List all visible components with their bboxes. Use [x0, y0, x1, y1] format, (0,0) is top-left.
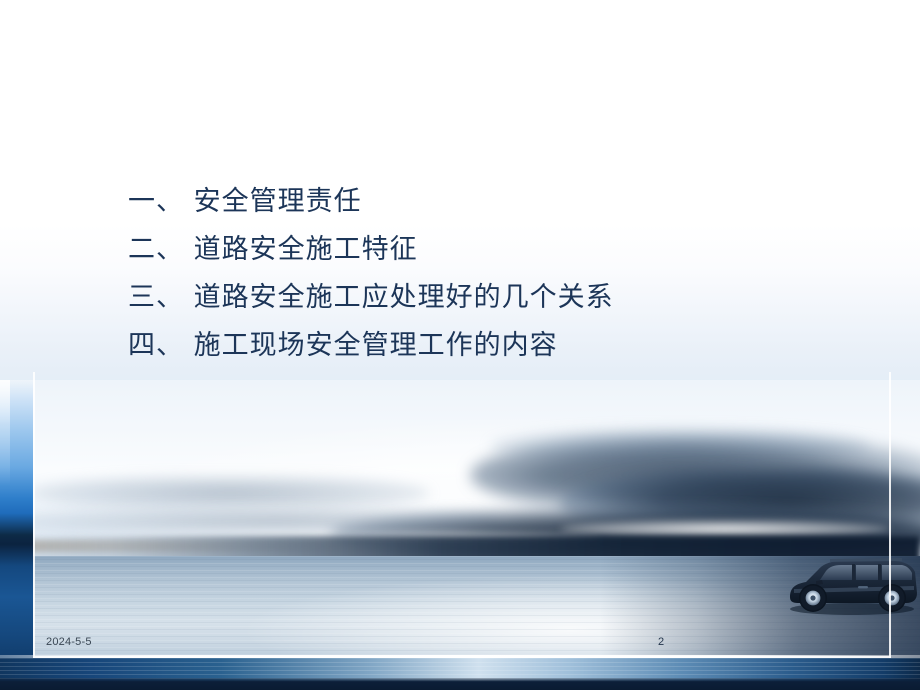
footer-date: 2024-5-5: [46, 636, 92, 648]
content-body: 一、 安全管理责任 二、 道路安全施工特征 三、 道路安全施工应处理好的几个关系…: [128, 178, 828, 370]
cloud-icon-left-upper: [30, 476, 430, 510]
left-band-highlight: [0, 380, 10, 690]
frame-line-right: [889, 372, 891, 658]
frame-line-bottom: [33, 656, 891, 658]
slide-canvas: 一、 安全管理责任 二、 道路安全施工特征 三、 道路安全施工应处理好的几个关系…: [0, 0, 920, 690]
bullet-line-2: 二、 道路安全施工特征: [128, 226, 828, 274]
bullet-line-4: 四、 施工现场安全管理工作的内容: [128, 322, 828, 370]
car-icon: [786, 553, 918, 615]
bullet-line-3: 三、 道路安全施工应处理好的几个关系: [128, 274, 828, 322]
bottom-dark-edge: [0, 678, 920, 690]
background-photograph: [0, 380, 920, 690]
footer-page-number: 2: [658, 636, 664, 648]
bullet-line-1: 一、 安全管理责任: [128, 178, 828, 226]
frame-line-left: [33, 372, 35, 658]
